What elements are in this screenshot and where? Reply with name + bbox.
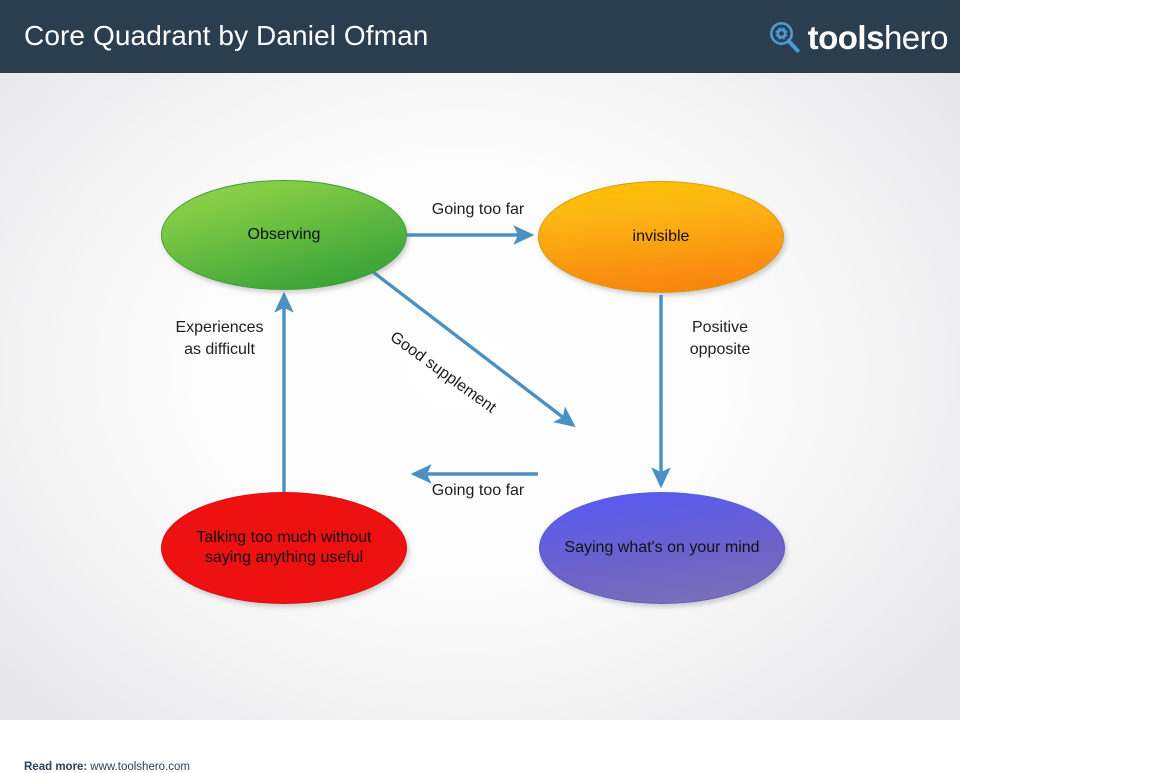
toolshero-url[interactable]: www.toolshero.com — [90, 761, 190, 773]
brand-wordmark: toolshero — [808, 21, 948, 54]
read-more-label: Read more: — [24, 761, 87, 773]
diagram-canvas: Observing invisible Talking too much wit… — [0, 73, 960, 720]
edge-label-going-too-far-bottom: Going too far — [408, 480, 548, 502]
edge-label-experiences-as-difficult: Experiences as difficult — [152, 317, 287, 360]
node-label: Observing — [234, 225, 335, 245]
node-label: Saying what's on your mind — [550, 538, 773, 558]
header-bar: Core Quadrant by Daniel Ofman — [0, 0, 960, 73]
edge-label-positive-opposite: Positive opposite — [660, 317, 780, 360]
footer-read-more: Read more:www.toolshero.com — [24, 761, 190, 773]
node-pitfall[interactable]: invisible — [538, 181, 784, 293]
slide: Core Quadrant by Daniel Ofman — [0, 0, 960, 720]
node-label: invisible — [619, 227, 704, 247]
brand-hero-text: hero — [884, 19, 948, 56]
node-label: Talking too much without saying anything… — [162, 528, 406, 569]
edge-label-going-too-far-top: Going too far — [418, 199, 538, 221]
node-core-quality[interactable]: Observing — [161, 180, 407, 290]
node-challenge[interactable]: Saying what's on your mind — [539, 492, 785, 604]
brand-tools-text: tools — [808, 19, 884, 56]
magnifier-gear-icon — [767, 20, 801, 54]
page-title: Core Quadrant by Daniel Ofman — [24, 20, 428, 52]
node-allergy[interactable]: Talking too much without saying anything… — [161, 492, 407, 604]
toolshero-logo[interactable]: toolshero — [767, 16, 948, 58]
